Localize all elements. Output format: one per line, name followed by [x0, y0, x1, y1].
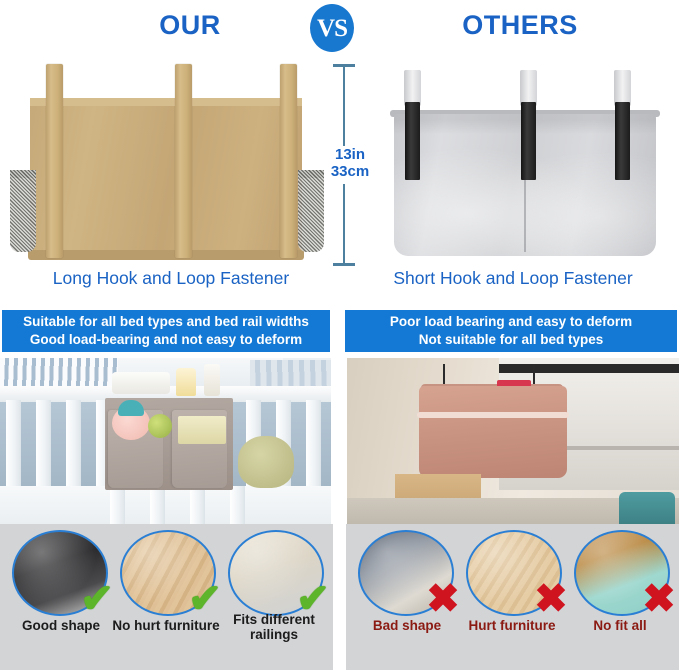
our-banner-line-2: Good load-bearing and not easy to deform: [30, 331, 302, 349]
dimension-line-lower: [343, 184, 345, 264]
plush-elephant: [238, 436, 294, 488]
check-mark-icon: ✔: [76, 578, 118, 620]
other-feature-label-2: No fit all: [562, 618, 678, 633]
others-heading: OTHERS: [430, 10, 610, 41]
our-feature-group: ✔ Good shape ✔ No hurt furniture ✔ Fits …: [0, 524, 333, 670]
wipes-pack: [112, 372, 170, 394]
our-banner-line-1: Suitable for all bed types and bed rail …: [23, 313, 309, 331]
our-caption: Long Hook and Loop Fastener: [6, 268, 336, 289]
our-product-top-edge: [30, 98, 302, 106]
other-short-strap-top-3: [614, 70, 631, 106]
other-banner-line-1: Poor load bearing and easy to deform: [390, 313, 632, 331]
plush-toy-green: [148, 414, 172, 438]
other-short-strap-3: [615, 102, 630, 180]
cabinet-top-edge: [499, 364, 679, 373]
our-feature-label-1: No hurt furniture: [108, 618, 224, 633]
our-feature-label-2: Fits different railings: [216, 612, 332, 642]
our-mesh-pocket-right: [298, 170, 324, 252]
other-feature-label-1: Hurt furniture: [454, 618, 570, 633]
vs-badge-label: VS: [317, 16, 347, 41]
our-product-body: [30, 98, 302, 258]
crib-slat: [6, 400, 21, 490]
our-feature-item-2: ✔: [228, 530, 328, 612]
feature-band: ✔ Good shape ✔ No hurt furniture ✔ Fits …: [0, 524, 679, 670]
organizer-rim: [417, 412, 569, 418]
other-feature-item-0: ✖: [358, 530, 458, 612]
other-product-image: [376, 62, 676, 268]
column-divider: [333, 524, 346, 670]
our-banner: Suitable for all bed types and bed rail …: [2, 310, 330, 352]
caption-row: Long Hook and Loop Fastener Short Hook a…: [0, 268, 679, 302]
crib-slat: [190, 486, 205, 524]
vs-badge-icon: VS: [310, 4, 354, 52]
other-feature-item-1: ✖: [466, 530, 566, 612]
crib-slat: [150, 486, 165, 524]
other-banner: Poor load bearing and easy to deform Not…: [345, 310, 677, 352]
dimension-cap-bottom: [333, 263, 355, 266]
sagging-organizer: [419, 386, 567, 478]
other-short-strap-top-1: [404, 70, 421, 106]
board-book: [178, 416, 226, 444]
our-long-strap-1: [46, 64, 63, 258]
cross-mark-icon: ✖: [422, 578, 464, 620]
our-product-bottom-edge: [28, 250, 304, 260]
comparison-infographic: OUR VS OTHERS 13in 33cm: [0, 0, 679, 670]
crib-slat: [36, 400, 51, 490]
our-product-image: [8, 62, 326, 268]
other-feature-group: ✖ Bad shape ✖ Hurt furniture ✖ No fit al…: [346, 524, 679, 670]
dimension-line-upper: [343, 66, 345, 146]
other-feature-item-2: ✖: [574, 530, 674, 612]
our-usage-photo: [0, 358, 331, 524]
crib-slat: [306, 400, 321, 490]
baby-bottle: [176, 368, 196, 396]
product-comparison-row: 13in 33cm: [0, 58, 679, 270]
banner-row: Suitable for all bed types and bed rail …: [0, 306, 679, 356]
cross-mark-icon: ✖: [530, 578, 572, 620]
our-feature-label-0: Good shape: [3, 618, 119, 633]
other-short-strap-1: [405, 102, 420, 180]
other-short-strap-2: [521, 102, 536, 180]
other-caption: Short Hook and Loop Fastener: [348, 268, 678, 289]
crib-slat: [110, 486, 125, 524]
our-long-strap-3: [280, 64, 297, 258]
dimension-inches: 13in: [327, 146, 373, 163]
cross-mark-icon: ✖: [638, 578, 679, 620]
our-heading: OUR: [120, 10, 260, 41]
photo-row: [0, 358, 679, 524]
dimension-centimeters: 33cm: [327, 163, 373, 180]
other-banner-line-2: Not suitable for all bed types: [419, 331, 604, 349]
crib-base: [0, 486, 331, 524]
dimension-indicator: 13in 33cm: [331, 62, 375, 268]
our-feature-item-1: ✔: [120, 530, 220, 612]
our-feature-item-0: ✔: [12, 530, 112, 612]
our-mesh-pocket-left: [10, 170, 36, 252]
lotion-pump: [204, 364, 220, 396]
other-usage-photo: [347, 358, 679, 524]
crib-slat: [230, 486, 245, 524]
other-feature-label-0: Bad shape: [349, 618, 465, 633]
plush-toy-hat: [118, 400, 144, 416]
our-long-strap-2: [175, 64, 192, 258]
teal-chair: [619, 492, 675, 524]
header: OUR VS OTHERS: [0, 0, 679, 58]
other-short-strap-top-2: [520, 70, 537, 106]
crib-slat: [66, 400, 81, 490]
